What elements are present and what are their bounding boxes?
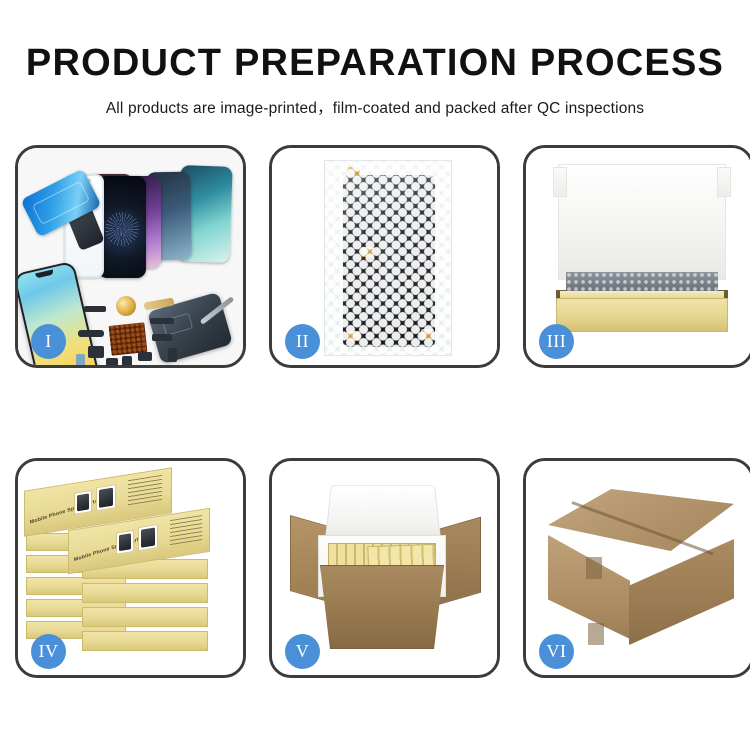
bubble-texture [325,161,451,355]
box-lid-icon [558,164,726,280]
foam-box-lid [325,485,442,542]
step-badge-1: I [31,324,66,359]
step-badge-4: IV [31,634,66,669]
step-panel-2[interactable]: II [269,145,500,368]
shipping-carton-body [320,565,444,649]
step-badge-5: V [285,634,320,669]
component-part-icon [138,352,152,361]
product-thumbnail [74,490,92,515]
component-part-icon [106,358,118,365]
step-panel-4[interactable]: Mobile Phone Spare Parts Mobile Phone Sp… [15,458,246,678]
step-panel-6[interactable]: VI [523,458,750,678]
spec-text-lines [128,475,162,508]
component-part-icon [76,354,85,365]
component-part-icon [150,318,174,324]
spec-text-lines [170,515,202,548]
retail-box-edge [82,631,208,651]
step-panel-1[interactable]: I [15,145,246,368]
product-preparation-infographic: PRODUCT PREPARATION PROCESS All products… [0,0,750,750]
gold-coil-icon [116,296,136,316]
component-part-icon [88,346,104,358]
process-step-grid: I II [15,145,735,678]
page-subtitle: All products are image-printed，film-coat… [0,96,750,118]
step-badge-6: VI [539,634,574,669]
phone-black-icon [98,176,146,278]
header: PRODUCT PREPARATION PROCESS All products… [0,0,750,118]
product-thumbnail [116,530,134,555]
component-part-icon [78,330,104,337]
step-panel-3[interactable]: III [523,145,750,368]
carton-tape-icon [586,557,602,579]
component-part-icon [152,334,172,341]
component-part-icon [122,356,132,365]
retail-box-edge [82,607,208,627]
product-thumbnail [96,484,116,511]
bubble-wrap-sleeve [324,160,452,356]
page-title: PRODUCT PREPARATION PROCESS [0,44,750,82]
retail-box-edge [82,583,208,603]
component-part-icon [84,306,106,312]
step-panel-5[interactable]: V [269,458,500,678]
component-part-icon [168,348,177,362]
step-badge-3: III [539,324,574,359]
step-badge-2: II [285,324,320,359]
carton-tape-icon [588,623,604,645]
box-front-panel [556,298,728,332]
chip-grid-icon [109,322,148,356]
product-thumbnail [138,524,158,551]
